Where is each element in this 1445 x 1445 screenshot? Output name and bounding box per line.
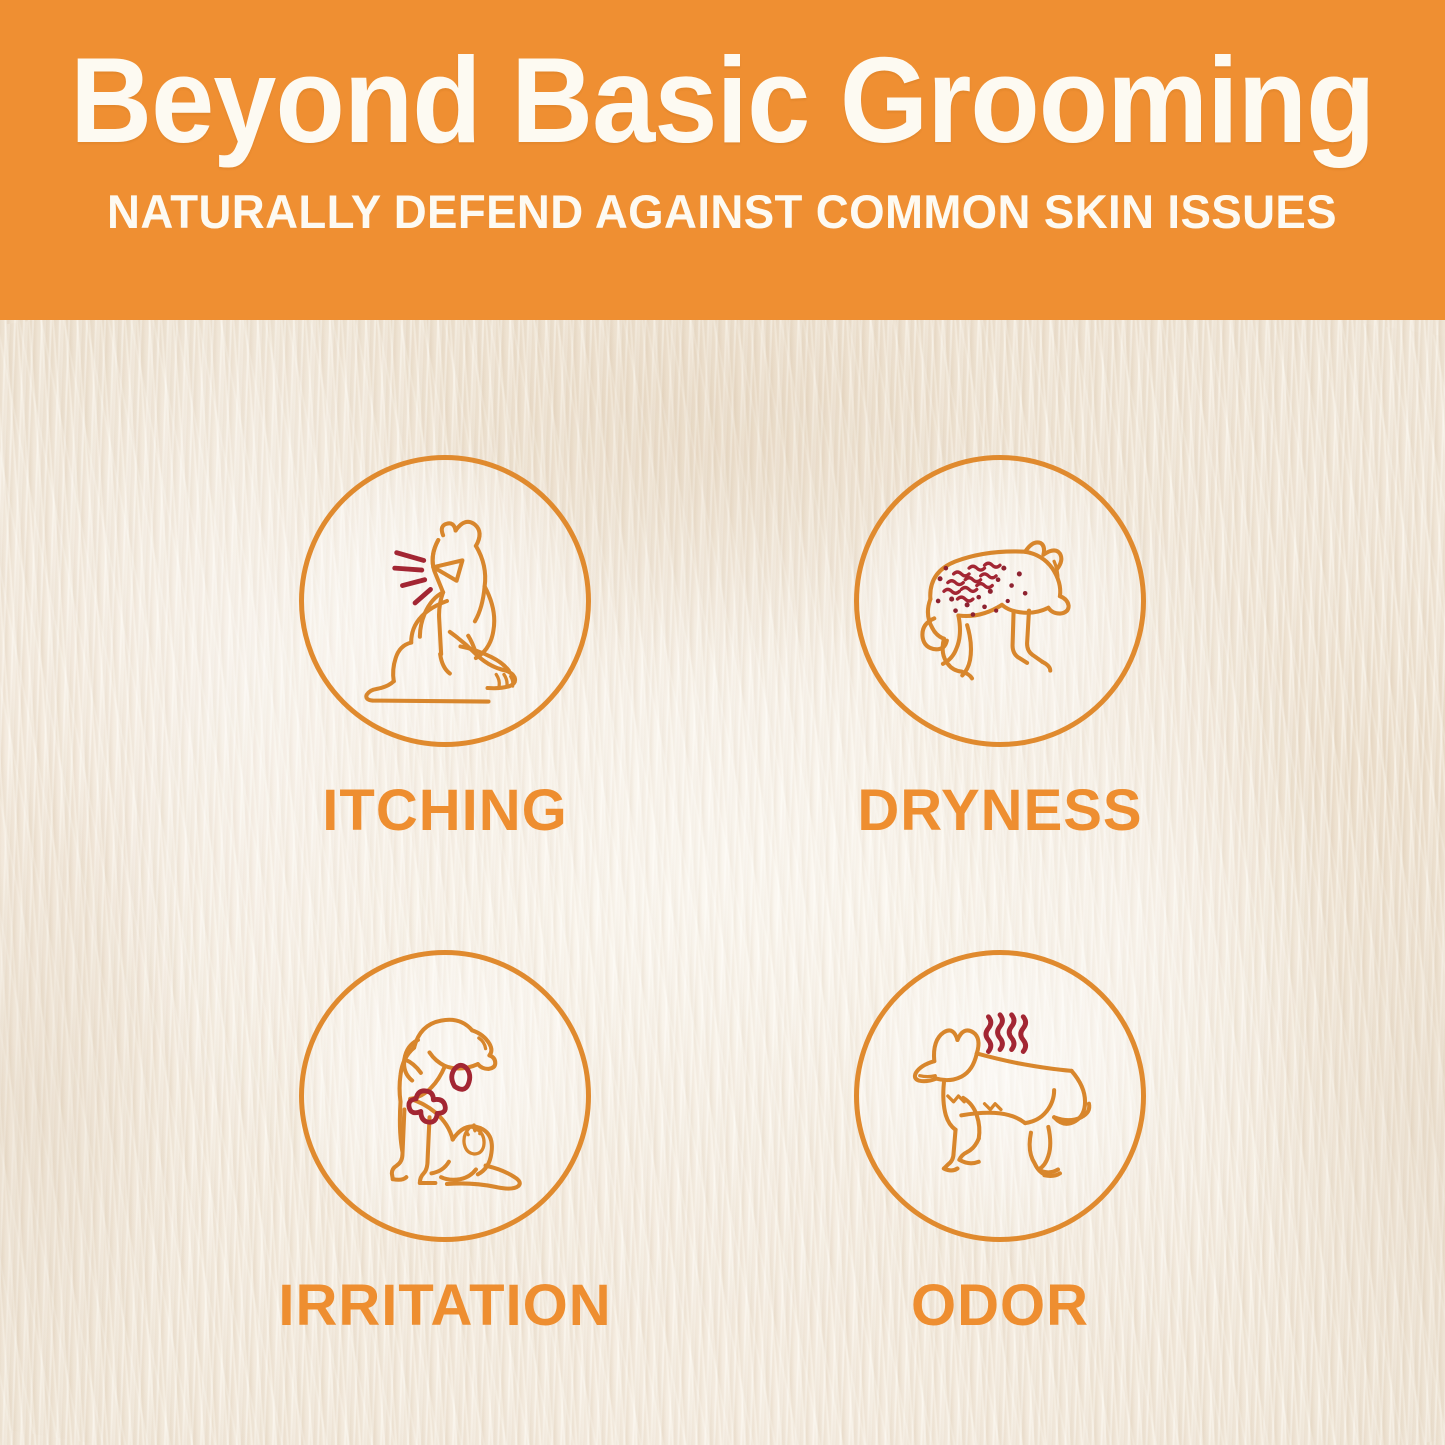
benefit-icon-grid: ITCHING xyxy=(0,320,1445,1445)
icon-label-itching: ITCHING xyxy=(195,777,695,844)
icon-circle-dryness xyxy=(854,455,1146,747)
icon-circle-irritation xyxy=(299,950,591,1242)
infographic-page: Beyond Basic Grooming NATURALLY DEFEND A… xyxy=(0,0,1445,1445)
icon-circle-odor xyxy=(854,950,1146,1242)
page-subtitle: NATURALLY DEFEND AGAINST COMMON SKIN ISS… xyxy=(108,184,1338,239)
header-banner: Beyond Basic Grooming NATURALLY DEFEND A… xyxy=(0,0,1445,320)
icon-label-irritation: IRRITATION xyxy=(195,1272,695,1339)
icon-cell-irritation: IRRITATION xyxy=(195,950,695,1339)
page-title: Beyond Basic Grooming xyxy=(70,38,1374,162)
icon-cell-odor: ODOR xyxy=(750,950,1250,1339)
icon-cell-dryness: DRYNESS xyxy=(750,455,1250,844)
dog-scratching-icon xyxy=(329,485,561,717)
icon-cell-itching: ITCHING xyxy=(195,455,695,844)
icon-label-odor: ODOR xyxy=(750,1272,1250,1339)
icon-label-dryness: DRYNESS xyxy=(750,777,1250,844)
dog-dandruff-icon xyxy=(884,485,1116,717)
dog-odor-icon xyxy=(884,980,1116,1212)
icon-circle-itching xyxy=(299,455,591,747)
dog-irritated-skin-icon xyxy=(329,980,561,1212)
